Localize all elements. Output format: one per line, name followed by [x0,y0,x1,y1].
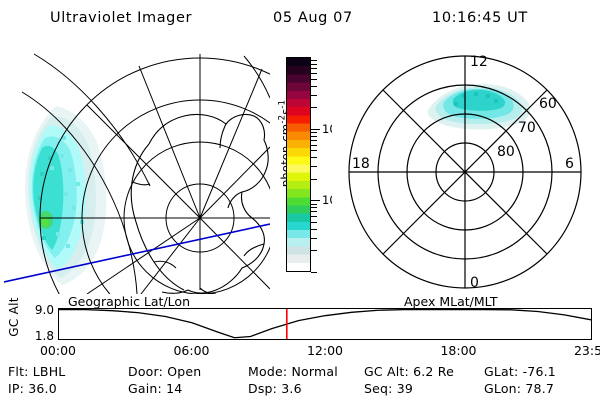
colorbar-minor-tick [311,179,317,180]
colorbar-minor-tick [311,73,317,74]
colorbar-minor-tick [311,150,317,151]
mlt-label-0: 0 [470,275,479,291]
colorbar-minor-tick [311,166,317,167]
colorbar-minor-tick [311,272,317,273]
strip-title-geographic: Geographic Lat/Lon [68,294,190,309]
colorbar-minor-tick [311,204,317,205]
header-bar: Ultraviolet Imager 05 Aug 07 10:16:45 UT [0,6,600,32]
strip-title-apex: Apex MLat/MLT [404,294,498,309]
apex-mlt-polar-plot[interactable]: 12 6 0 18 60 70 80 [332,44,598,294]
colorbar-bar[interactable] [286,57,311,272]
colorbar-minor-tick [311,86,317,87]
colorbar[interactable]: photon cm-2s-1 10010 [268,44,332,294]
gc-altitude-curve [59,310,591,338]
strip-xtick-label: 00:00 [40,343,76,358]
aurora-hotspot-core [42,218,49,227]
colorbar-minor-tick [311,136,317,137]
strip-xtick-label: 23:59 [574,343,600,358]
status-footer: Flt: LBHL Door: Open Mode: Normal GC Alt… [0,364,600,400]
strip-xtick-label: 06:00 [173,343,209,358]
mlat-label-60: 60 [539,96,557,112]
instrument-title: Ultraviolet Imager [50,10,192,26]
colorbar-minor-tick [311,216,317,217]
colorbar-minor-tick [311,238,317,239]
geographic-plot-svg [4,44,270,294]
observation-time: 10:16:45 UT [432,10,528,26]
mlt-label-12: 12 [470,54,488,70]
colorbar-minor-tick [311,64,317,65]
mlt-label-18: 18 [352,156,370,172]
colorbar-minor-tick [311,207,317,208]
colorbar-major-tick [311,200,320,201]
strip-ytick-max: 9.0 [26,303,54,317]
colorbar-major-tick [311,129,320,130]
mlat-label-80: 80 [497,144,515,160]
status-dsp: Dsp: 3.6 [248,381,302,396]
colorbar-minor-tick [311,145,317,146]
uvi-display-window: Ultraviolet Imager 05 Aug 07 10:16:45 UT [0,0,600,400]
status-gc-alt: GC Alt: 6.2 Re [364,364,454,379]
strip-xtick-label: 12:00 [307,343,343,358]
status-gain: Gain: 14 [128,381,182,396]
colorbar-minor-tick [311,157,317,158]
status-glat: GLat: -76.1 [484,364,556,379]
mlat-label-70: 70 [518,120,536,136]
strip-xtick-label: 18:00 [440,343,476,358]
colorbar-minor-tick [311,132,317,133]
geographic-polar-plot[interactable] [4,44,270,294]
colorbar-minor-tick [311,250,317,251]
mlt-plot-svg: 12 6 0 18 60 70 80 [332,44,598,294]
altitude-timeseries-strip[interactable]: Geographic Lat/Lon Apex MLat/MLT GC Alt … [0,294,600,356]
strip-y-axis-label: GC Alt [7,289,21,345]
status-seq: Seq: 39 [364,381,413,396]
strip-plot-svg [59,309,591,339]
status-flt: Flt: LBHL [8,364,65,379]
observation-date: 05 Aug 07 [273,10,353,26]
mlt-spokes [349,56,581,288]
colorbar-minor-tick [311,60,317,61]
status-ip: IP: 36.0 [8,381,57,396]
mlt-label-6: 6 [565,156,574,172]
status-mode: Mode: Normal [248,364,338,379]
colorbar-minor-tick [311,140,317,141]
colorbar-gradient [287,58,310,271]
strip-plot-area[interactable] [58,308,592,340]
strip-ytick-min: 1.8 [26,329,54,343]
status-glon: GLon: 78.7 [484,381,554,396]
colorbar-minor-tick [311,107,317,108]
colorbar-minor-tick [311,95,317,96]
colorbar-minor-tick [311,211,317,212]
colorbar-minor-tick [311,68,317,69]
colorbar-minor-tick [311,222,317,223]
colorbar-minor-tick [311,79,317,80]
colorbar-minor-tick [311,229,317,230]
status-door: Door: Open [128,364,201,379]
